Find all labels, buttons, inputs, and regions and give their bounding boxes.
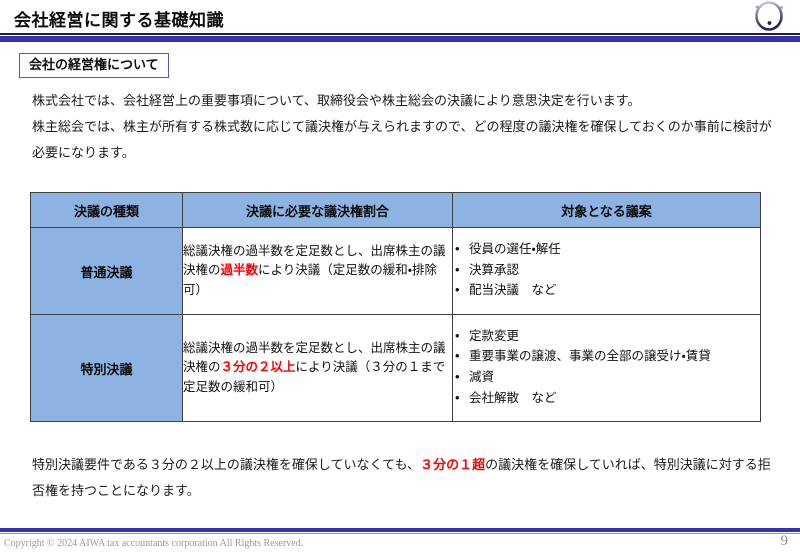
intro-paragraph-1: 株式会社では、会社経営上の重要事項について、取締役会や株主総会の決議により意思決… <box>32 88 772 114</box>
cell-target-subjects: 役員の選任・解任 決算承認 配当決議 など <box>453 228 761 315</box>
column-header-kind: 決議の種類 <box>31 193 183 228</box>
list-item: 減資 <box>453 368 760 387</box>
subject-list: 役員の選任・解任 決算承認 配当決議 など <box>453 240 760 300</box>
footer-divider-thin <box>0 533 800 534</box>
cell-target-subjects: 定款変更 重要事業の譲渡、事業の全部の譲受け・賃貸 減資 会社解散 など <box>453 315 761 422</box>
list-item: 会社解散 など <box>453 389 760 408</box>
intro-paragraph-2: 株主総会では、株主が所有する株式数に応じて議決権が与えられますので、どの程度の議… <box>32 114 772 166</box>
resolution-table: 決議の種類 決議に必要な議決権割合 対象となる議案 普通決議 総議決権の過半数を… <box>30 192 761 422</box>
title-divider-thick <box>0 36 800 42</box>
column-header-subject: 対象となる議案 <box>453 193 761 228</box>
column-header-ratio: 決議に必要な議決権割合 <box>183 193 453 228</box>
page-title: 会社経営に関する基礎知識 <box>14 6 224 31</box>
ring-logo-icon <box>752 1 786 33</box>
intro-text: 株式会社では、会社経営上の重要事項について、取締役会や株主総会の決議により意思決… <box>32 88 772 166</box>
copyright-text: Copyright © 2024 AIWA tax accountants co… <box>4 538 303 549</box>
cell-resolution-kind: 普通決議 <box>31 228 183 315</box>
list-item: 定款変更 <box>453 327 760 346</box>
ratio-highlight: 過半数 <box>221 263 259 277</box>
section-heading: 会社の経営権について <box>19 53 169 78</box>
cell-required-ratio: 総議決権の過半数を定足数とし、出席株主の議決権の過半数により決議（定足数の緩和・… <box>183 228 453 315</box>
ratio-highlight: ３分の２以上 <box>221 360 296 374</box>
footer-divider-thick <box>0 528 800 532</box>
closing-text: 特別決議要件である３分の２以上の議決権を確保していなくても、３分の１超の議決権を… <box>32 452 777 504</box>
cell-required-ratio: 総議決権の過半数を定足数とし、出席株主の議決権の３分の２以上により決議（３分の１… <box>183 315 453 422</box>
page-number: 9 <box>781 533 789 550</box>
closing-paragraph: 特別決議要件である３分の２以上の議決権を確保していなくても、３分の１超の議決権を… <box>32 452 777 504</box>
footer-divider <box>0 528 800 535</box>
table-row: 特別決議 総議決権の過半数を定足数とし、出席株主の議決権の３分の２以上により決議… <box>31 315 761 422</box>
cell-resolution-kind: 特別決議 <box>31 315 183 422</box>
slide: 会社経営に関する基礎知識 会社の経営権について 株式会社では、会社経営上の重要事… <box>0 0 800 555</box>
subject-list: 定款変更 重要事業の譲渡、事業の全部の譲受け・賃貸 減資 会社解散 など <box>453 327 760 408</box>
list-item: 役員の選任・解任 <box>453 240 760 259</box>
table-header-row: 決議の種類 決議に必要な議決権割合 対象となる議案 <box>31 193 761 228</box>
title-divider <box>0 33 800 43</box>
list-item: 重要事業の譲渡、事業の全部の譲受け・賃貸 <box>453 347 760 366</box>
closing-text-pre: 特別決議要件である３分の２以上の議決権を確保していなくても、 <box>32 457 420 472</box>
closing-highlight: ３分の１超 <box>420 457 485 472</box>
list-item: 決算承認 <box>453 261 760 280</box>
table-row: 普通決議 総議決権の過半数を定足数とし、出席株主の議決権の過半数により決議（定足… <box>31 228 761 315</box>
list-item: 配当決議 など <box>453 281 760 300</box>
title-divider-thin <box>0 33 800 35</box>
